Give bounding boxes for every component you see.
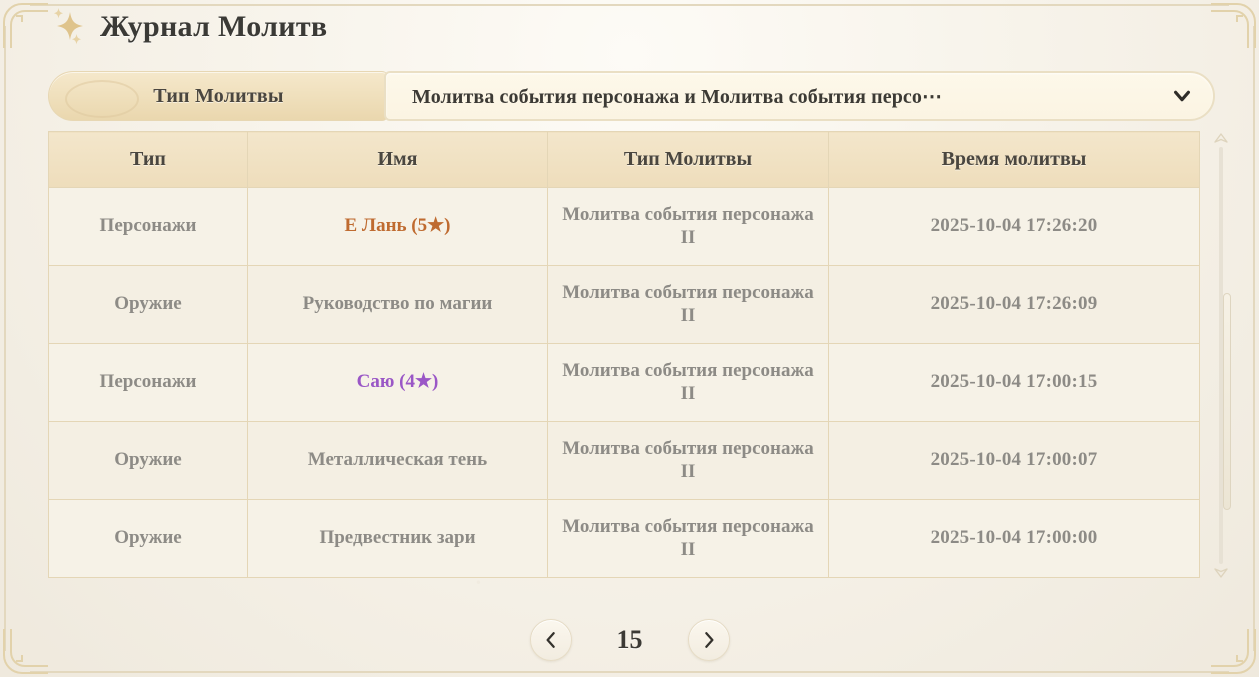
frame-border-right xyxy=(1253,26,1255,651)
chevron-right-icon xyxy=(700,631,718,649)
previous-page-button[interactable] xyxy=(530,619,572,661)
chevron-left-icon xyxy=(542,631,560,649)
column-header-type: Тип xyxy=(49,132,248,188)
cell-wish-type: Молитва события персонажа II xyxy=(548,266,829,344)
cell-wish-time: 2025-10-04 17:00:07 xyxy=(829,422,1200,500)
cell-item-type: Оружие xyxy=(49,422,248,500)
filter-label: Тип Молитвы xyxy=(48,71,388,121)
cell-wish-type: Молитва события персонажа II xyxy=(548,188,829,266)
chevron-down-icon xyxy=(1171,85,1193,107)
scrollbar-thumb[interactable] xyxy=(1223,293,1231,510)
corner-ornament-top-left xyxy=(2,2,50,50)
table-row: ПерсонажиСаю (4★)Молитва события персона… xyxy=(49,344,1200,422)
pagination-controls: 15 xyxy=(0,619,1259,661)
cell-item-type: Персонажи xyxy=(49,344,248,422)
cell-item-name: Е Лань (5★) xyxy=(248,188,548,266)
wish-history-table: Тип Имя Тип Молитвы Время молитвы Персон… xyxy=(48,131,1200,578)
cell-item-name: Металлическая тень xyxy=(248,422,548,500)
scroll-down-arrow-icon[interactable] xyxy=(1214,567,1228,578)
current-page-number: 15 xyxy=(610,625,650,655)
cell-wish-type: Молитва события персонажа II xyxy=(548,344,829,422)
table-body: ПерсонажиЕ Лань (5★)Молитва события перс… xyxy=(49,188,1200,578)
cell-item-type: Оружие xyxy=(49,500,248,578)
table-row: ОружиеМеталлическая теньМолитва события … xyxy=(49,422,1200,500)
column-header-time: Время молитвы xyxy=(829,132,1200,188)
frame-border-left xyxy=(4,26,6,651)
cell-wish-type: Молитва события персонажа II xyxy=(548,422,829,500)
column-header-name: Имя xyxy=(248,132,548,188)
cell-wish-time: 2025-10-04 17:00:15 xyxy=(829,344,1200,422)
scroll-up-arrow-icon[interactable] xyxy=(1214,133,1228,144)
table-header-row: Тип Имя Тип Молитвы Время молитвы xyxy=(49,132,1200,188)
cell-item-name: Предвестник зари xyxy=(248,500,548,578)
cell-item-type: Оружие xyxy=(49,266,248,344)
cell-wish-time: 2025-10-04 17:00:00 xyxy=(829,500,1200,578)
cell-wish-time: 2025-10-04 17:26:09 xyxy=(829,266,1200,344)
corner-ornament-top-right xyxy=(1209,2,1257,50)
table-row: ПерсонажиЕ Лань (5★)Молитва события перс… xyxy=(49,188,1200,266)
next-page-button[interactable] xyxy=(688,619,730,661)
cell-item-type: Персонажи xyxy=(49,188,248,266)
cell-item-name: Руководство по магии xyxy=(248,266,548,344)
wish-type-dropdown-value: Молитва события персонажа и Молитва собы… xyxy=(412,84,1163,109)
column-header-wish-type: Тип Молитвы xyxy=(548,132,829,188)
filter-label-text: Тип Молитвы xyxy=(153,85,283,108)
wish-history-window: Журнал Молитв Тип Молитвы Молитва событи… xyxy=(0,0,1259,677)
table-row: ОружиеРуководство по магииМолитва событи… xyxy=(49,266,1200,344)
table-row: ОружиеПредвестник зариМолитва события пе… xyxy=(49,500,1200,578)
frame-border-bottom xyxy=(30,671,1229,673)
cell-item-name: Саю (4★) xyxy=(248,344,548,422)
wish-type-dropdown[interactable]: Молитва события персонажа и Молитва собы… xyxy=(384,71,1215,121)
table-scrollbar[interactable] xyxy=(1213,133,1229,578)
wish-history-table-container: Тип Имя Тип Молитвы Время молитвы Персон… xyxy=(48,131,1199,578)
cell-wish-type: Молитва события персонажа II xyxy=(548,500,829,578)
page-header: Журнал Молитв xyxy=(50,6,327,48)
scrollbar-track[interactable] xyxy=(1219,147,1223,564)
sparkle-icon xyxy=(50,6,88,48)
page-title: Журнал Молитв xyxy=(100,12,327,42)
wish-type-filter-bar: Тип Молитвы Молитва события персонажа и … xyxy=(48,71,1215,121)
cell-wish-time: 2025-10-04 17:26:20 xyxy=(829,188,1200,266)
